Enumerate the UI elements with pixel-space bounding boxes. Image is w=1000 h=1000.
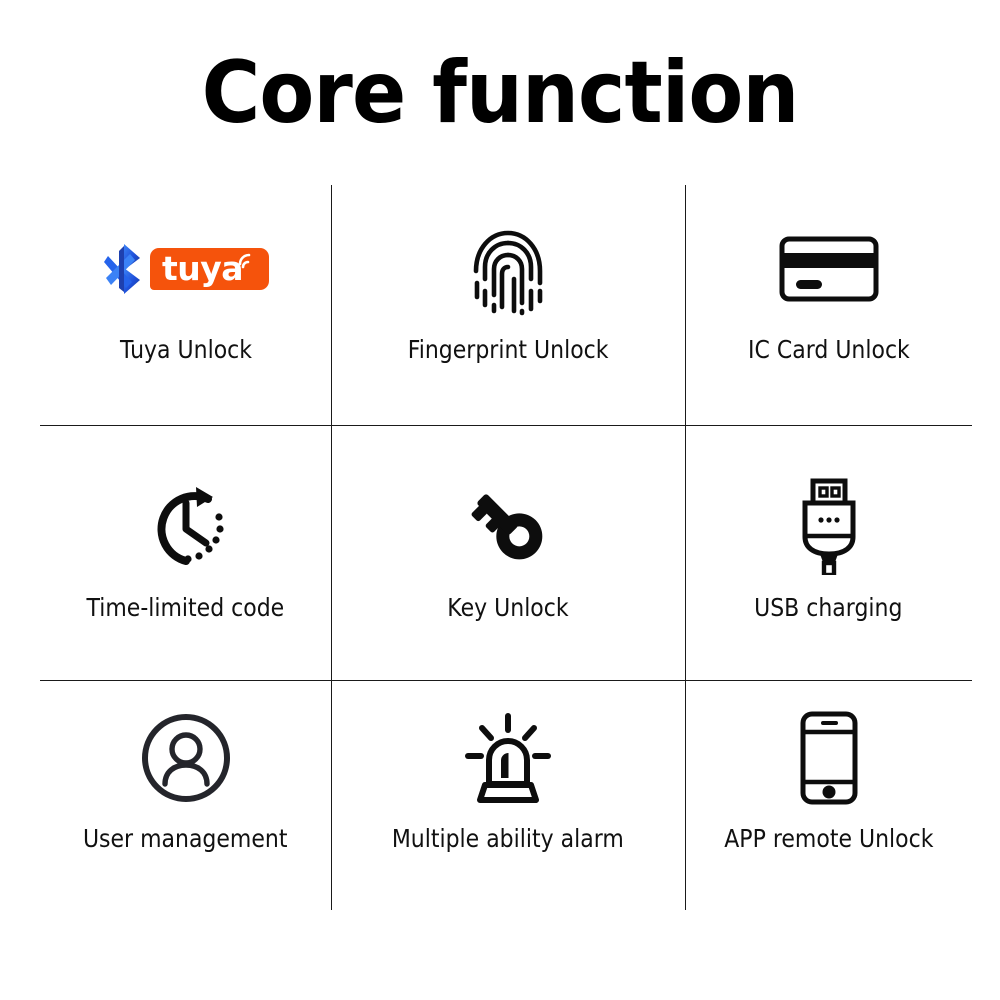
feature-label: Time-limited code bbox=[87, 593, 285, 622]
feature-cell-fingerprint-unlock[interactable]: Fingerprint Unlock bbox=[331, 185, 685, 425]
feature-label: USB charging bbox=[754, 593, 902, 622]
feature-label: Key Unlock bbox=[447, 593, 568, 622]
feature-label: User management bbox=[83, 824, 288, 853]
feature-label: Fingerprint Unlock bbox=[408, 335, 609, 364]
feature-cell-time-limited-code[interactable]: Time-limited code bbox=[40, 425, 331, 680]
feature-label: APP remote Unlock bbox=[724, 824, 933, 853]
tuya-wordmark: tuya bbox=[162, 252, 243, 285]
bluetooth-icon bbox=[102, 242, 148, 296]
feature-cell-usb-charging[interactable]: USB charging bbox=[685, 425, 972, 680]
feature-cell-tuya-unlock[interactable]: tuya Tuya Unlock bbox=[40, 185, 331, 425]
feature-cell-user-management[interactable]: User management bbox=[40, 680, 331, 910]
feature-cell-multiple-ability-alarm[interactable]: Multiple ability alarm bbox=[331, 680, 685, 910]
tuya-bluetooth-logo-icon: tuya bbox=[102, 221, 269, 317]
fingerprint-icon bbox=[462, 221, 554, 317]
user-circle-icon bbox=[138, 706, 234, 810]
feature-cell-key-unlock[interactable]: Key Unlock bbox=[331, 425, 685, 680]
ic-card-icon bbox=[779, 221, 879, 317]
clock-timer-icon bbox=[136, 473, 236, 577]
feature-cell-app-remote-unlock[interactable]: APP remote Unlock bbox=[685, 680, 972, 910]
usb-plug-icon bbox=[789, 473, 869, 577]
feature-label: Multiple ability alarm bbox=[392, 824, 624, 853]
feature-label: Tuya Unlock bbox=[120, 335, 252, 364]
feature-grid: tuya Tuya Unlock bbox=[40, 185, 972, 910]
feature-cell-ic-card-unlock[interactable]: IC Card Unlock bbox=[685, 185, 972, 425]
feature-label: IC Card Unlock bbox=[748, 335, 910, 364]
siren-alarm-icon bbox=[458, 706, 558, 810]
core-function-feature-board: Core function bbox=[0, 0, 1000, 1000]
tuya-badge: tuya bbox=[150, 248, 269, 290]
smartphone-icon bbox=[797, 706, 861, 810]
key-icon bbox=[462, 473, 554, 577]
wifi-arc-icon bbox=[237, 251, 259, 275]
page-title: Core function bbox=[35, 48, 965, 138]
